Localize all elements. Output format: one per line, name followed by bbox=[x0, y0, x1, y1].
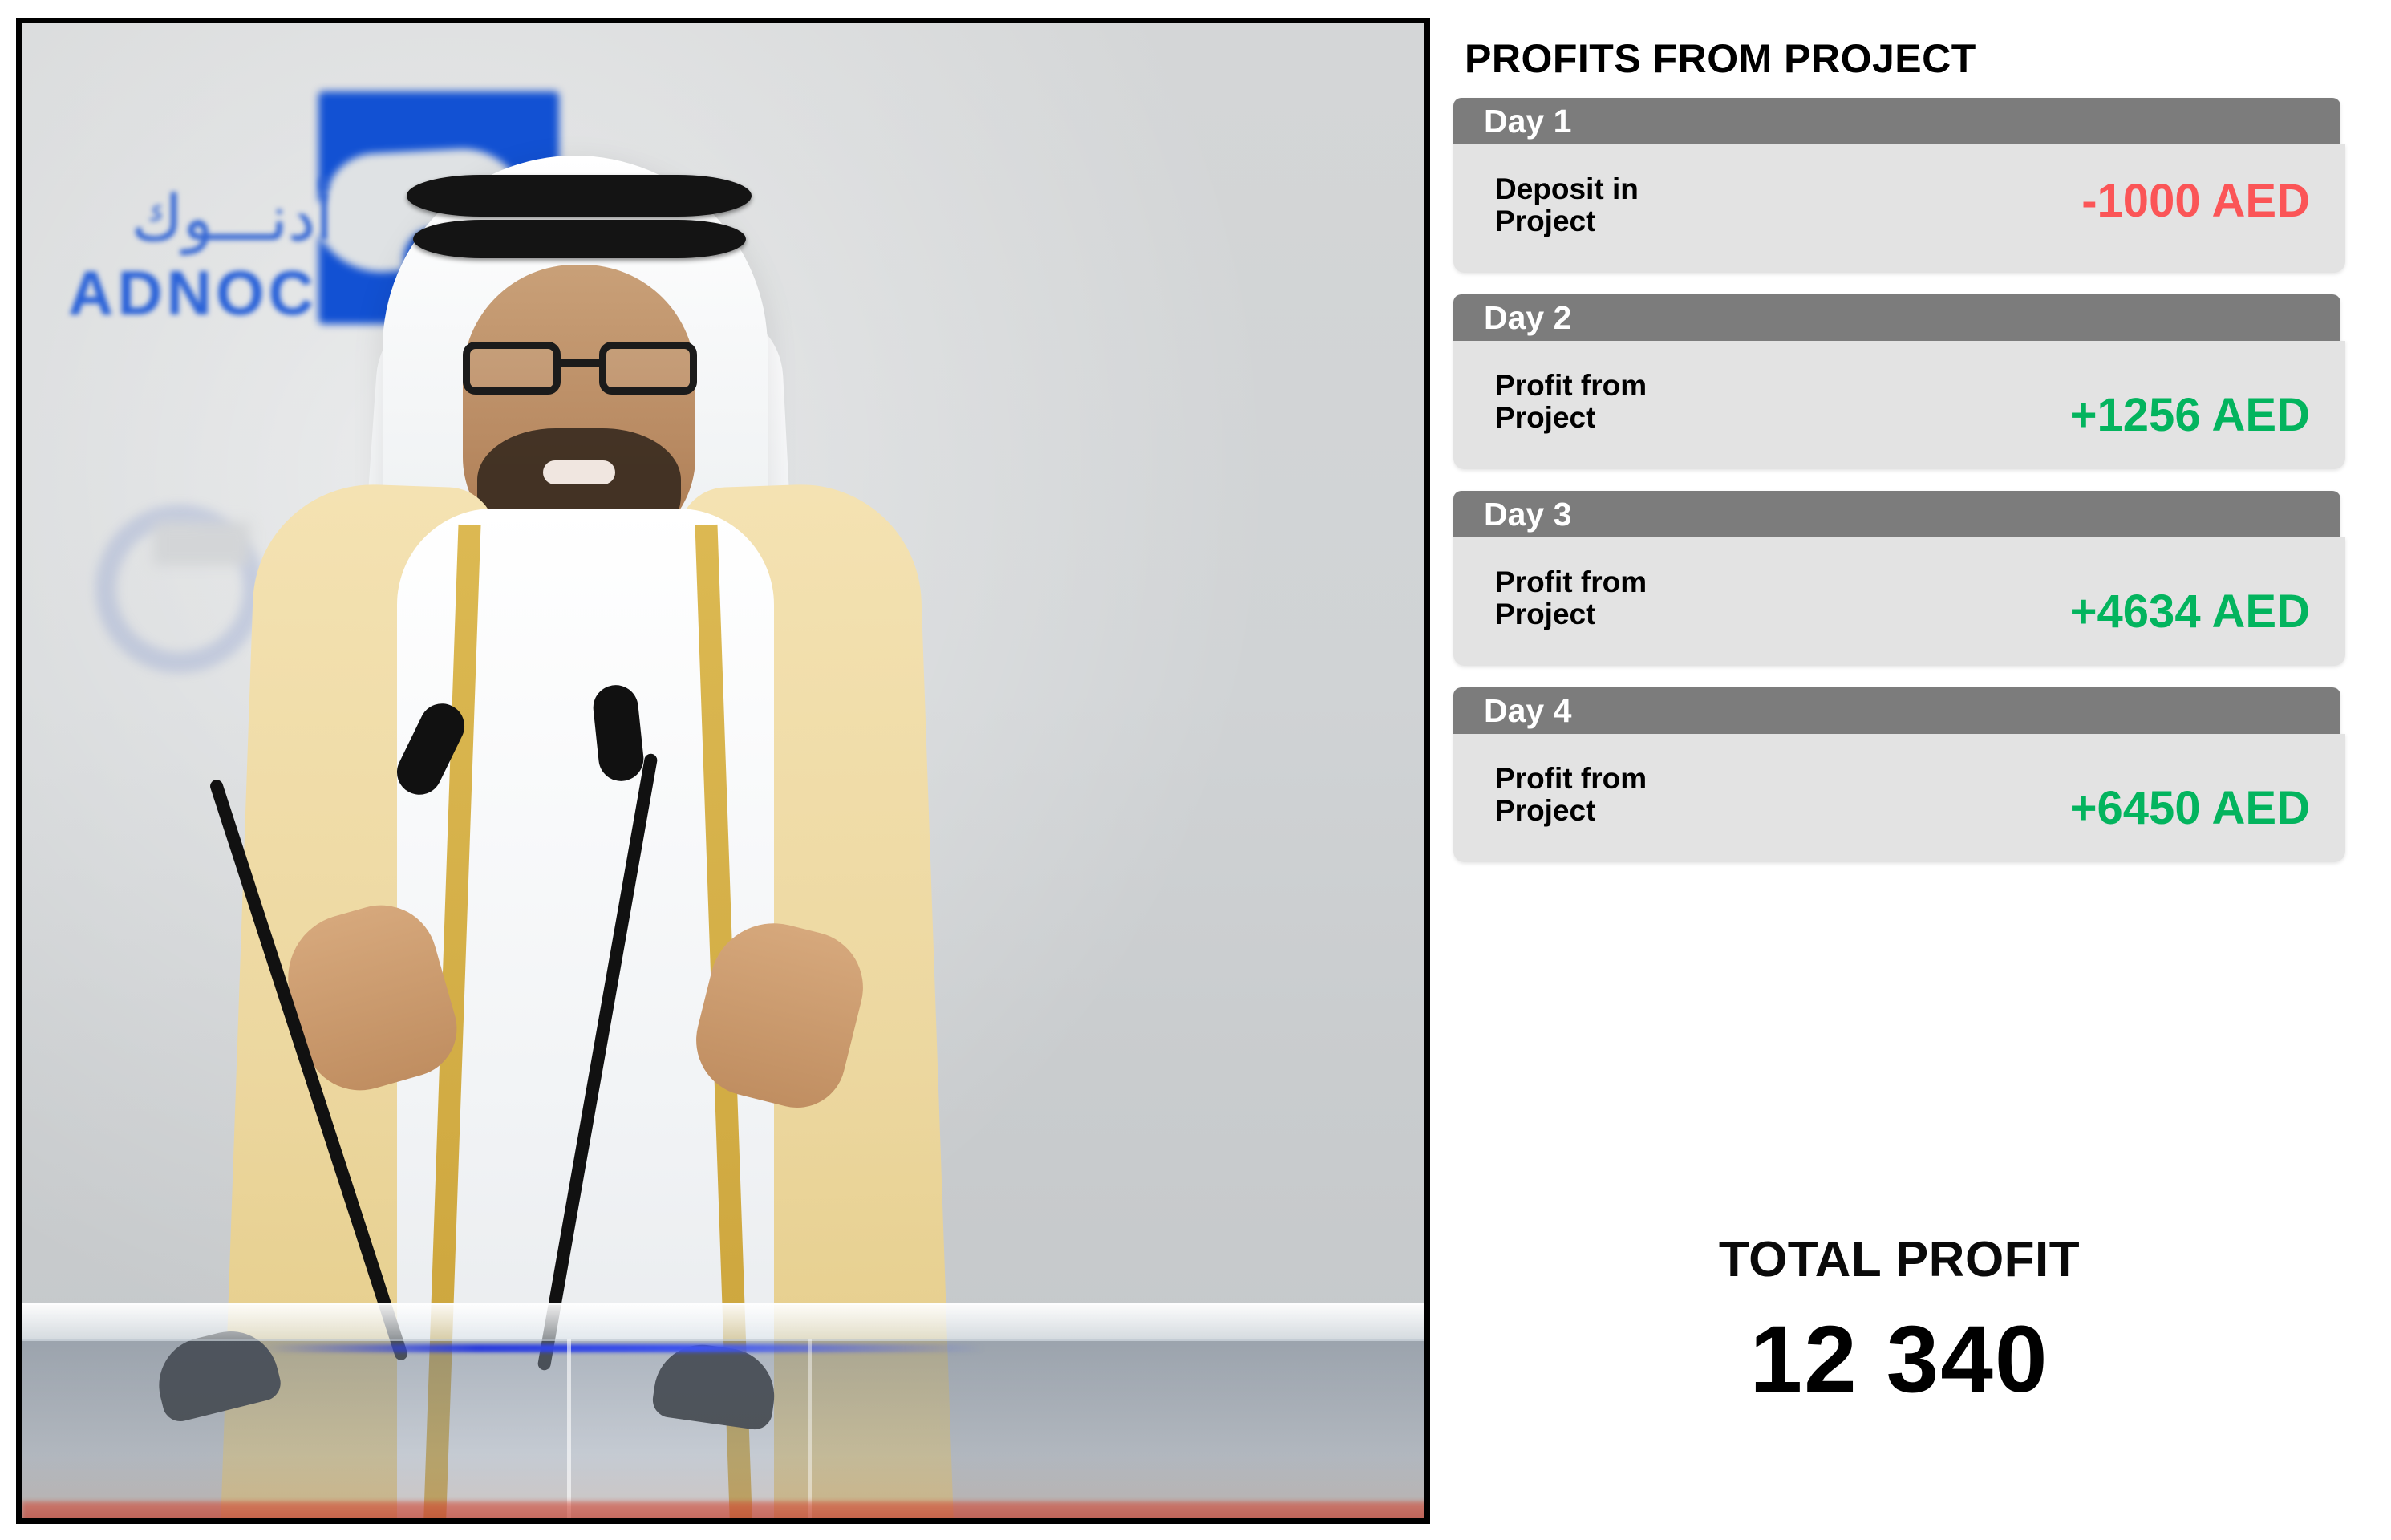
day-card[interactable]: Day 2 Profit from Project +1256 AED bbox=[1453, 294, 2345, 469]
day-description: Profit from Project bbox=[1495, 370, 1784, 434]
day-description: Deposit in Project bbox=[1495, 173, 1784, 237]
day-label: Day 1 bbox=[1484, 105, 1571, 138]
glasses-icon bbox=[456, 342, 703, 395]
day-amount: +4634 AED bbox=[2070, 589, 2310, 635]
day-card-header: Day 2 bbox=[1453, 294, 2340, 341]
day-label: Day 4 bbox=[1484, 695, 1571, 727]
agal-cord-upper bbox=[407, 175, 752, 217]
podium-body bbox=[22, 1339, 1424, 1518]
day-card-header: Day 4 bbox=[1453, 687, 2340, 734]
podium-top-surface bbox=[22, 1303, 1424, 1341]
total-profit-value: 12 340 bbox=[1453, 1312, 2345, 1407]
day-label: Day 2 bbox=[1484, 302, 1571, 334]
day-description: Profit from Project bbox=[1495, 763, 1784, 827]
podium-edge-1 bbox=[567, 1339, 571, 1518]
day-amount: -1000 AED bbox=[2081, 178, 2310, 225]
day-card-header: Day 3 bbox=[1453, 491, 2340, 537]
day-card[interactable]: Day 3 Profit from Project +4634 AED bbox=[1453, 491, 2345, 666]
mouth bbox=[543, 460, 615, 484]
total-profit-label: TOTAL PROFIT bbox=[1453, 1235, 2345, 1285]
day-card-body: Deposit in Project -1000 AED bbox=[1453, 144, 2345, 273]
day-card-body: Profit from Project +1256 AED bbox=[1453, 341, 2345, 469]
day-card-header: Day 1 bbox=[1453, 98, 2340, 144]
day-amount: +6450 AED bbox=[2070, 785, 2310, 832]
total-profit-block: TOTAL PROFIT 12 340 bbox=[1453, 1235, 2345, 1407]
speaker-photo: أدنـــوك ADNOC bbox=[16, 18, 1430, 1524]
day-amount: +1256 AED bbox=[2070, 392, 2310, 439]
day-card-body: Profit from Project +4634 AED bbox=[1453, 537, 2345, 666]
profits-panel: PROFITS FROM PROJECT Day 1 Deposit in Pr… bbox=[1453, 0, 2391, 1540]
glasses-lens-right bbox=[599, 342, 697, 395]
podium bbox=[22, 1303, 1424, 1518]
podium-blue-light bbox=[262, 1344, 984, 1352]
day-card-list: Day 1 Deposit in Project -1000 AED Day 2… bbox=[1453, 98, 2345, 884]
agal-cord-lower bbox=[413, 220, 746, 258]
glasses-lens-left bbox=[463, 342, 561, 395]
day-card-body: Profit from Project +6450 AED bbox=[1453, 734, 2345, 862]
panel-title: PROFITS FROM PROJECT bbox=[1465, 35, 1976, 82]
glasses-bridge bbox=[561, 359, 599, 367]
infographic-root: أدنـــوك ADNOC bbox=[0, 0, 2391, 1540]
podium-red-reflection bbox=[22, 1501, 1424, 1518]
day-label: Day 3 bbox=[1484, 498, 1571, 531]
podium-edge-2 bbox=[808, 1339, 812, 1518]
day-card[interactable]: Day 4 Profit from Project +6450 AED bbox=[1453, 687, 2345, 862]
day-description: Profit from Project bbox=[1495, 566, 1784, 630]
photo-content: أدنـــوك ADNOC bbox=[22, 23, 1424, 1518]
day-card[interactable]: Day 1 Deposit in Project -1000 AED bbox=[1453, 98, 2345, 273]
